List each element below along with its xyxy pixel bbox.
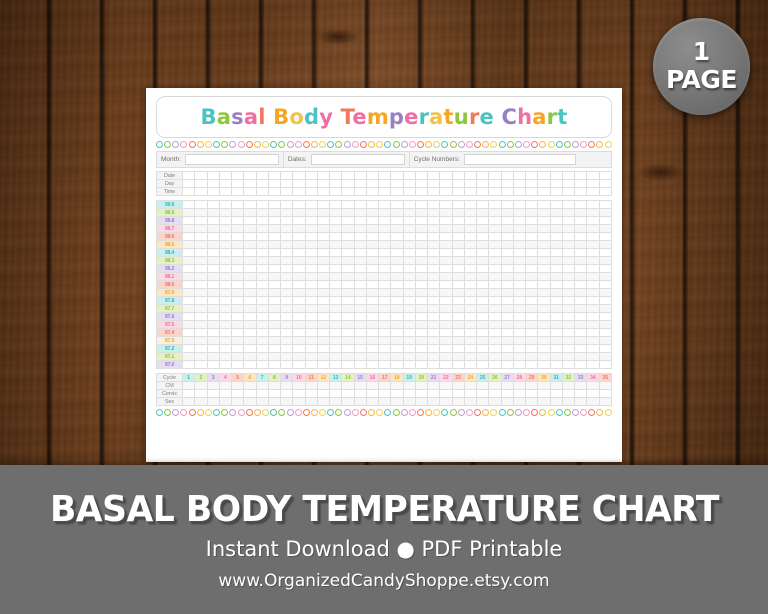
temperature-plot-cell[interactable] (281, 313, 293, 321)
grid-cell[interactable] (391, 188, 403, 196)
temperature-plot-cell[interactable] (244, 289, 256, 297)
temperature-plot-cell[interactable] (428, 305, 440, 313)
temperature-plot-cell[interactable] (268, 225, 280, 233)
temperature-plot-cell[interactable] (477, 233, 489, 241)
temperature-plot-cell[interactable] (281, 321, 293, 329)
temperature-plot-cell[interactable] (293, 217, 305, 225)
temperature-plot-cell[interactable] (293, 225, 305, 233)
temperature-plot-cell[interactable] (244, 225, 256, 233)
grid-cell[interactable] (464, 180, 476, 188)
temperature-plot-cell[interactable] (342, 209, 354, 217)
temperature-plot-cell[interactable] (464, 233, 476, 241)
grid-cell[interactable] (232, 180, 244, 188)
grid-cell[interactable] (183, 180, 195, 188)
temperature-plot-cell[interactable] (489, 249, 501, 257)
temperature-plot-cell[interactable] (207, 241, 219, 249)
temperature-plot-cell[interactable] (428, 241, 440, 249)
temperature-plot-cell[interactable] (477, 265, 489, 273)
cycle-day-1[interactable]: 1 (183, 374, 195, 382)
temperature-plot-cell[interactable] (366, 233, 378, 241)
temperature-plot-cell[interactable] (379, 321, 391, 329)
temperature-plot-cell[interactable] (244, 265, 256, 273)
grid-cell[interactable] (256, 390, 268, 398)
temperature-plot-cell[interactable] (575, 201, 587, 209)
temperature-plot-cell[interactable] (489, 289, 501, 297)
temperature-plot-cell[interactable] (268, 353, 280, 361)
temperature-plot-cell[interactable] (489, 281, 501, 289)
grid-cell[interactable] (207, 398, 219, 406)
temperature-plot-cell[interactable] (244, 249, 256, 257)
temperature-plot-cell[interactable] (489, 321, 501, 329)
grid-cell[interactable] (305, 398, 317, 406)
temperature-plot-cell[interactable] (256, 345, 268, 353)
temperature-plot-cell[interactable] (219, 281, 231, 289)
cycle-day-8[interactable]: 8 (268, 374, 280, 382)
temperature-plot-cell[interactable] (464, 273, 476, 281)
temperature-plot-cell[interactable] (305, 209, 317, 217)
temperature-plot-cell[interactable] (489, 337, 501, 345)
grid-cell[interactable] (293, 180, 305, 188)
grid-cell[interactable] (501, 180, 513, 188)
temperature-plot-cell[interactable] (440, 265, 452, 273)
temperature-plot-cell[interactable] (195, 337, 207, 345)
temperature-plot-cell[interactable] (305, 321, 317, 329)
grid-cell[interactable] (489, 172, 501, 180)
temperature-plot-cell[interactable] (403, 321, 415, 329)
grid-cell[interactable] (330, 180, 342, 188)
grid-cell[interactable] (354, 172, 366, 180)
temperature-plot-cell[interactable] (464, 201, 476, 209)
temperature-plot-cell[interactable] (244, 297, 256, 305)
grid-cell[interactable] (477, 188, 489, 196)
temperature-plot-cell[interactable] (403, 305, 415, 313)
grid-cell[interactable] (342, 188, 354, 196)
temperature-plot-cell[interactable] (464, 225, 476, 233)
temperature-plot-cell[interactable] (354, 289, 366, 297)
temperature-plot-cell[interactable] (354, 281, 366, 289)
temperature-plot-cell[interactable] (330, 353, 342, 361)
temperature-plot-cell[interactable] (379, 329, 391, 337)
temperature-plot-cell[interactable] (317, 201, 329, 209)
temperature-plot-cell[interactable] (550, 225, 562, 233)
temperature-plot-cell[interactable] (281, 297, 293, 305)
temperature-plot-cell[interactable] (489, 305, 501, 313)
grid-cell[interactable] (538, 390, 550, 398)
temperature-plot-cell[interactable] (428, 281, 440, 289)
temperature-plot-cell[interactable] (219, 265, 231, 273)
temperature-plot-cell[interactable] (293, 257, 305, 265)
temperature-plot-cell[interactable] (501, 329, 513, 337)
temperature-plot-cell[interactable] (207, 217, 219, 225)
grid-cell[interactable] (513, 188, 525, 196)
temperature-plot-cell[interactable] (477, 289, 489, 297)
temperature-plot-cell[interactable] (256, 265, 268, 273)
temperature-plot-cell[interactable] (330, 209, 342, 217)
temperature-plot-cell[interactable] (195, 313, 207, 321)
temperature-plot-cell[interactable] (452, 233, 464, 241)
temperature-plot-cell[interactable] (587, 225, 599, 233)
grid-cell[interactable] (575, 390, 587, 398)
grid-cell[interactable] (477, 180, 489, 188)
temperature-plot-cell[interactable] (464, 265, 476, 273)
temperature-plot-cell[interactable] (366, 265, 378, 273)
grid-cell[interactable] (244, 172, 256, 180)
temperature-plot-cell[interactable] (440, 329, 452, 337)
grid-cell[interactable] (183, 172, 195, 180)
temperature-plot-cell[interactable] (183, 345, 195, 353)
temperature-plot-cell[interactable] (501, 337, 513, 345)
grid-cell[interactable] (501, 398, 513, 406)
temperature-plot-cell[interactable] (599, 345, 612, 353)
temperature-plot-cell[interactable] (550, 241, 562, 249)
temperature-plot-cell[interactable] (501, 353, 513, 361)
grid-cell[interactable] (415, 172, 427, 180)
temperature-plot-cell[interactable] (342, 273, 354, 281)
temperature-plot-cell[interactable] (354, 225, 366, 233)
temperature-plot-cell[interactable] (342, 257, 354, 265)
temperature-plot-cell[interactable] (293, 337, 305, 345)
temperature-plot-cell[interactable] (366, 361, 378, 369)
temperature-plot-cell[interactable] (379, 225, 391, 233)
temperature-plot-cell[interactable] (415, 209, 427, 217)
temperature-plot-cell[interactable] (256, 241, 268, 249)
temperature-plot-cell[interactable] (477, 305, 489, 313)
temperature-plot-cell[interactable] (575, 305, 587, 313)
temperature-plot-cell[interactable] (317, 305, 329, 313)
temperature-plot-cell[interactable] (440, 225, 452, 233)
temperature-plot-cell[interactable] (587, 313, 599, 321)
temperature-plot-cell[interactable] (599, 201, 612, 209)
temperature-plot-cell[interactable] (305, 233, 317, 241)
temperature-plot-cell[interactable] (477, 337, 489, 345)
month-input[interactable] (185, 154, 279, 165)
grid-cell[interactable] (293, 390, 305, 398)
temperature-plot-cell[interactable] (440, 313, 452, 321)
temperature-plot-cell[interactable] (281, 281, 293, 289)
temperature-plot-cell[interactable] (538, 329, 550, 337)
temperature-plot-cell[interactable] (195, 201, 207, 209)
temperature-plot-cell[interactable] (293, 297, 305, 305)
grid-cell[interactable] (330, 382, 342, 390)
grid-cell[interactable] (562, 382, 574, 390)
temperature-plot-cell[interactable] (317, 217, 329, 225)
temperature-plot-cell[interactable] (415, 265, 427, 273)
grid-cell[interactable] (268, 172, 280, 180)
temperature-plot-cell[interactable] (195, 361, 207, 369)
temperature-plot-cell[interactable] (526, 201, 538, 209)
temperature-plot-cell[interactable] (244, 321, 256, 329)
temperature-plot-cell[interactable] (366, 297, 378, 305)
grid-cell[interactable] (183, 390, 195, 398)
grid-cell[interactable] (354, 180, 366, 188)
temperature-plot-cell[interactable] (232, 353, 244, 361)
temperature-plot-cell[interactable] (366, 305, 378, 313)
temperature-plot-cell[interactable] (501, 305, 513, 313)
temperature-plot-cell[interactable] (366, 329, 378, 337)
temperature-plot-cell[interactable] (550, 353, 562, 361)
temperature-plot-cell[interactable] (513, 201, 525, 209)
temperature-plot-cell[interactable] (575, 321, 587, 329)
temperature-plot-cell[interactable] (550, 257, 562, 265)
temperature-plot-cell[interactable] (244, 353, 256, 361)
temperature-plot-cell[interactable] (440, 361, 452, 369)
grid-cell[interactable] (403, 390, 415, 398)
cycle-day-26[interactable]: 26 (489, 374, 501, 382)
cycle-numbers-input[interactable] (464, 154, 576, 165)
grid-cell[interactable] (268, 398, 280, 406)
temperature-plot-cell[interactable] (391, 249, 403, 257)
temperature-plot-cell[interactable] (293, 209, 305, 217)
grid-cell[interactable] (342, 390, 354, 398)
grid-cell[interactable] (575, 180, 587, 188)
temperature-plot-cell[interactable] (342, 305, 354, 313)
temperature-plot-cell[interactable] (415, 289, 427, 297)
temperature-plot-cell[interactable] (403, 353, 415, 361)
temperature-plot-cell[interactable] (330, 297, 342, 305)
temperature-plot-cell[interactable] (391, 313, 403, 321)
grid-cell[interactable] (501, 382, 513, 390)
temperature-plot-cell[interactable] (281, 273, 293, 281)
temperature-plot-cell[interactable] (513, 241, 525, 249)
grid-cell[interactable] (513, 398, 525, 406)
temperature-plot-cell[interactable] (464, 217, 476, 225)
temperature-plot-cell[interactable] (477, 209, 489, 217)
temperature-plot-cell[interactable] (464, 321, 476, 329)
temperature-plot-cell[interactable] (403, 201, 415, 209)
temperature-plot-cell[interactable] (268, 281, 280, 289)
temperature-plot-cell[interactable] (562, 249, 574, 257)
temperature-plot-cell[interactable] (391, 297, 403, 305)
temperature-plot-cell[interactable] (526, 329, 538, 337)
temperature-plot-cell[interactable] (305, 201, 317, 209)
temperature-plot-cell[interactable] (526, 209, 538, 217)
temperature-plot-cell[interactable] (330, 241, 342, 249)
grid-cell[interactable] (550, 382, 562, 390)
temperature-plot-cell[interactable] (489, 201, 501, 209)
grid-cell[interactable] (562, 172, 574, 180)
temperature-plot-cell[interactable] (501, 225, 513, 233)
temperature-plot-cell[interactable] (440, 305, 452, 313)
grid-cell[interactable] (403, 398, 415, 406)
temperature-plot-cell[interactable] (526, 249, 538, 257)
temperature-plot-cell[interactable] (403, 209, 415, 217)
temperature-plot-cell[interactable] (452, 305, 464, 313)
temperature-plot-cell[interactable] (513, 361, 525, 369)
temperature-plot-cell[interactable] (268, 209, 280, 217)
temperature-plot-cell[interactable] (317, 249, 329, 257)
temperature-plot-cell[interactable] (183, 265, 195, 273)
temperature-plot-cell[interactable] (538, 257, 550, 265)
grid-cell[interactable] (330, 390, 342, 398)
temperature-plot-cell[interactable] (379, 241, 391, 249)
cycle-day-4[interactable]: 4 (219, 374, 231, 382)
temperature-plot-cell[interactable] (366, 289, 378, 297)
temperature-plot-cell[interactable] (501, 217, 513, 225)
temperature-plot-cell[interactable] (501, 321, 513, 329)
temperature-plot-cell[interactable] (379, 233, 391, 241)
temperature-plot-cell[interactable] (293, 289, 305, 297)
temperature-plot-cell[interactable] (415, 249, 427, 257)
temperature-plot-cell[interactable] (440, 273, 452, 281)
temperature-plot-cell[interactable] (599, 313, 612, 321)
temperature-plot-cell[interactable] (550, 201, 562, 209)
grid-cell[interactable] (317, 188, 329, 196)
temperature-plot-cell[interactable] (562, 217, 574, 225)
grid-cell[interactable] (587, 398, 599, 406)
temperature-plot-cell[interactable] (440, 321, 452, 329)
temperature-plot-cell[interactable] (562, 225, 574, 233)
temperature-plot-cell[interactable] (550, 233, 562, 241)
temperature-plot-cell[interactable] (232, 217, 244, 225)
temperature-plot-cell[interactable] (452, 361, 464, 369)
temperature-plot-cell[interactable] (195, 345, 207, 353)
temperature-plot-cell[interactable] (366, 241, 378, 249)
grid-cell[interactable] (219, 398, 231, 406)
temperature-plot-cell[interactable] (477, 313, 489, 321)
temperature-plot-cell[interactable] (330, 233, 342, 241)
grid-cell[interactable] (501, 188, 513, 196)
temperature-plot-cell[interactable] (575, 337, 587, 345)
grid-cell[interactable] (354, 398, 366, 406)
temperature-plot-cell[interactable] (305, 305, 317, 313)
cycle-day-2[interactable]: 2 (195, 374, 207, 382)
temperature-plot-cell[interactable] (575, 281, 587, 289)
temperature-plot-cell[interactable] (489, 329, 501, 337)
grid-cell[interactable] (538, 188, 550, 196)
temperature-plot-cell[interactable] (207, 337, 219, 345)
temperature-plot-cell[interactable] (403, 313, 415, 321)
temperature-plot-cell[interactable] (354, 321, 366, 329)
temperature-plot-cell[interactable] (317, 353, 329, 361)
temperature-plot-cell[interactable] (244, 337, 256, 345)
grid-cell[interactable] (538, 382, 550, 390)
temperature-plot-cell[interactable] (219, 321, 231, 329)
temperature-plot-cell[interactable] (464, 313, 476, 321)
temperature-plot-cell[interactable] (207, 281, 219, 289)
grid-cell[interactable] (207, 180, 219, 188)
temperature-plot-cell[interactable] (183, 241, 195, 249)
temperature-plot-cell[interactable] (366, 321, 378, 329)
temperature-plot-cell[interactable] (330, 257, 342, 265)
temperature-plot-cell[interactable] (183, 321, 195, 329)
temperature-plot-cell[interactable] (599, 337, 612, 345)
temperature-plot-cell[interactable] (195, 329, 207, 337)
temperature-plot-cell[interactable] (562, 241, 574, 249)
grid-cell[interactable] (379, 180, 391, 188)
cycle-day-3[interactable]: 3 (207, 374, 219, 382)
temperature-plot-cell[interactable] (440, 241, 452, 249)
temperature-plot-cell[interactable] (207, 305, 219, 313)
temperature-plot-cell[interactable] (330, 305, 342, 313)
cycle-day-24[interactable]: 24 (464, 374, 476, 382)
temperature-plot-cell[interactable] (501, 297, 513, 305)
temperature-plot-cell[interactable] (501, 313, 513, 321)
grid-cell[interactable] (501, 172, 513, 180)
temperature-plot-cell[interactable] (562, 257, 574, 265)
grid-cell[interactable] (464, 188, 476, 196)
temperature-plot-cell[interactable] (575, 313, 587, 321)
grid-cell[interactable] (415, 398, 427, 406)
temperature-plot-cell[interactable] (293, 201, 305, 209)
temperature-plot-cell[interactable] (219, 289, 231, 297)
temperature-plot-cell[interactable] (477, 345, 489, 353)
temperature-plot-cell[interactable] (501, 273, 513, 281)
temperature-plot-cell[interactable] (305, 265, 317, 273)
temperature-plot-cell[interactable] (513, 305, 525, 313)
temperature-plot-cell[interactable] (366, 313, 378, 321)
temperature-plot-cell[interactable] (256, 305, 268, 313)
temperature-plot-cell[interactable] (452, 337, 464, 345)
temperature-plot-cell[interactable] (281, 337, 293, 345)
temperature-plot-cell[interactable] (391, 281, 403, 289)
grid-cell[interactable] (305, 390, 317, 398)
temperature-plot-cell[interactable] (183, 353, 195, 361)
temperature-plot-cell[interactable] (232, 257, 244, 265)
temperature-plot-cell[interactable] (232, 209, 244, 217)
temperature-plot-cell[interactable] (415, 321, 427, 329)
temperature-plot-cell[interactable] (256, 297, 268, 305)
temperature-plot-cell[interactable] (452, 201, 464, 209)
temperature-plot-cell[interactable] (599, 257, 612, 265)
temperature-plot-cell[interactable] (268, 257, 280, 265)
temperature-plot-cell[interactable] (354, 345, 366, 353)
temperature-plot-cell[interactable] (440, 353, 452, 361)
grid-cell[interactable] (354, 188, 366, 196)
temperature-plot-cell[interactable] (391, 337, 403, 345)
temperature-plot-cell[interactable] (501, 241, 513, 249)
temperature-plot-cell[interactable] (268, 305, 280, 313)
temperature-plot-cell[interactable] (501, 361, 513, 369)
temperature-plot-cell[interactable] (599, 329, 612, 337)
cycle-day-33[interactable]: 33 (575, 374, 587, 382)
temperature-plot-cell[interactable] (183, 257, 195, 265)
cycle-day-29[interactable]: 29 (526, 374, 538, 382)
temperature-plot-cell[interactable] (599, 305, 612, 313)
grid-cell[interactable] (305, 180, 317, 188)
grid-cell[interactable] (415, 188, 427, 196)
temperature-plot-cell[interactable] (489, 345, 501, 353)
grid-cell[interactable] (232, 188, 244, 196)
temperature-plot-cell[interactable] (354, 273, 366, 281)
temperature-plot-cell[interactable] (562, 337, 574, 345)
temperature-plot-cell[interactable] (256, 329, 268, 337)
temperature-plot-cell[interactable] (575, 241, 587, 249)
temperature-plot-cell[interactable] (183, 361, 195, 369)
temperature-plot-cell[interactable] (293, 353, 305, 361)
temperature-plot-cell[interactable] (599, 209, 612, 217)
grid-cell[interactable] (452, 172, 464, 180)
temperature-plot-cell[interactable] (293, 281, 305, 289)
temperature-plot-cell[interactable] (232, 329, 244, 337)
temperature-plot-cell[interactable] (354, 249, 366, 257)
cycle-day-18[interactable]: 18 (391, 374, 403, 382)
temperature-plot-cell[interactable] (415, 281, 427, 289)
temperature-plot-cell[interactable] (562, 281, 574, 289)
temperature-plot-cell[interactable] (526, 297, 538, 305)
temperature-plot-cell[interactable] (575, 353, 587, 361)
temperature-plot-cell[interactable] (415, 345, 427, 353)
temperature-plot-cell[interactable] (207, 345, 219, 353)
temperature-plot-cell[interactable] (366, 281, 378, 289)
grid-cell[interactable] (366, 398, 378, 406)
grid-cell[interactable] (232, 382, 244, 390)
temperature-plot-cell[interactable] (599, 249, 612, 257)
temperature-plot-cell[interactable] (501, 345, 513, 353)
grid-cell[interactable] (281, 398, 293, 406)
temperature-plot-cell[interactable] (403, 337, 415, 345)
temperature-plot-cell[interactable] (391, 321, 403, 329)
temperature-plot-cell[interactable] (281, 289, 293, 297)
